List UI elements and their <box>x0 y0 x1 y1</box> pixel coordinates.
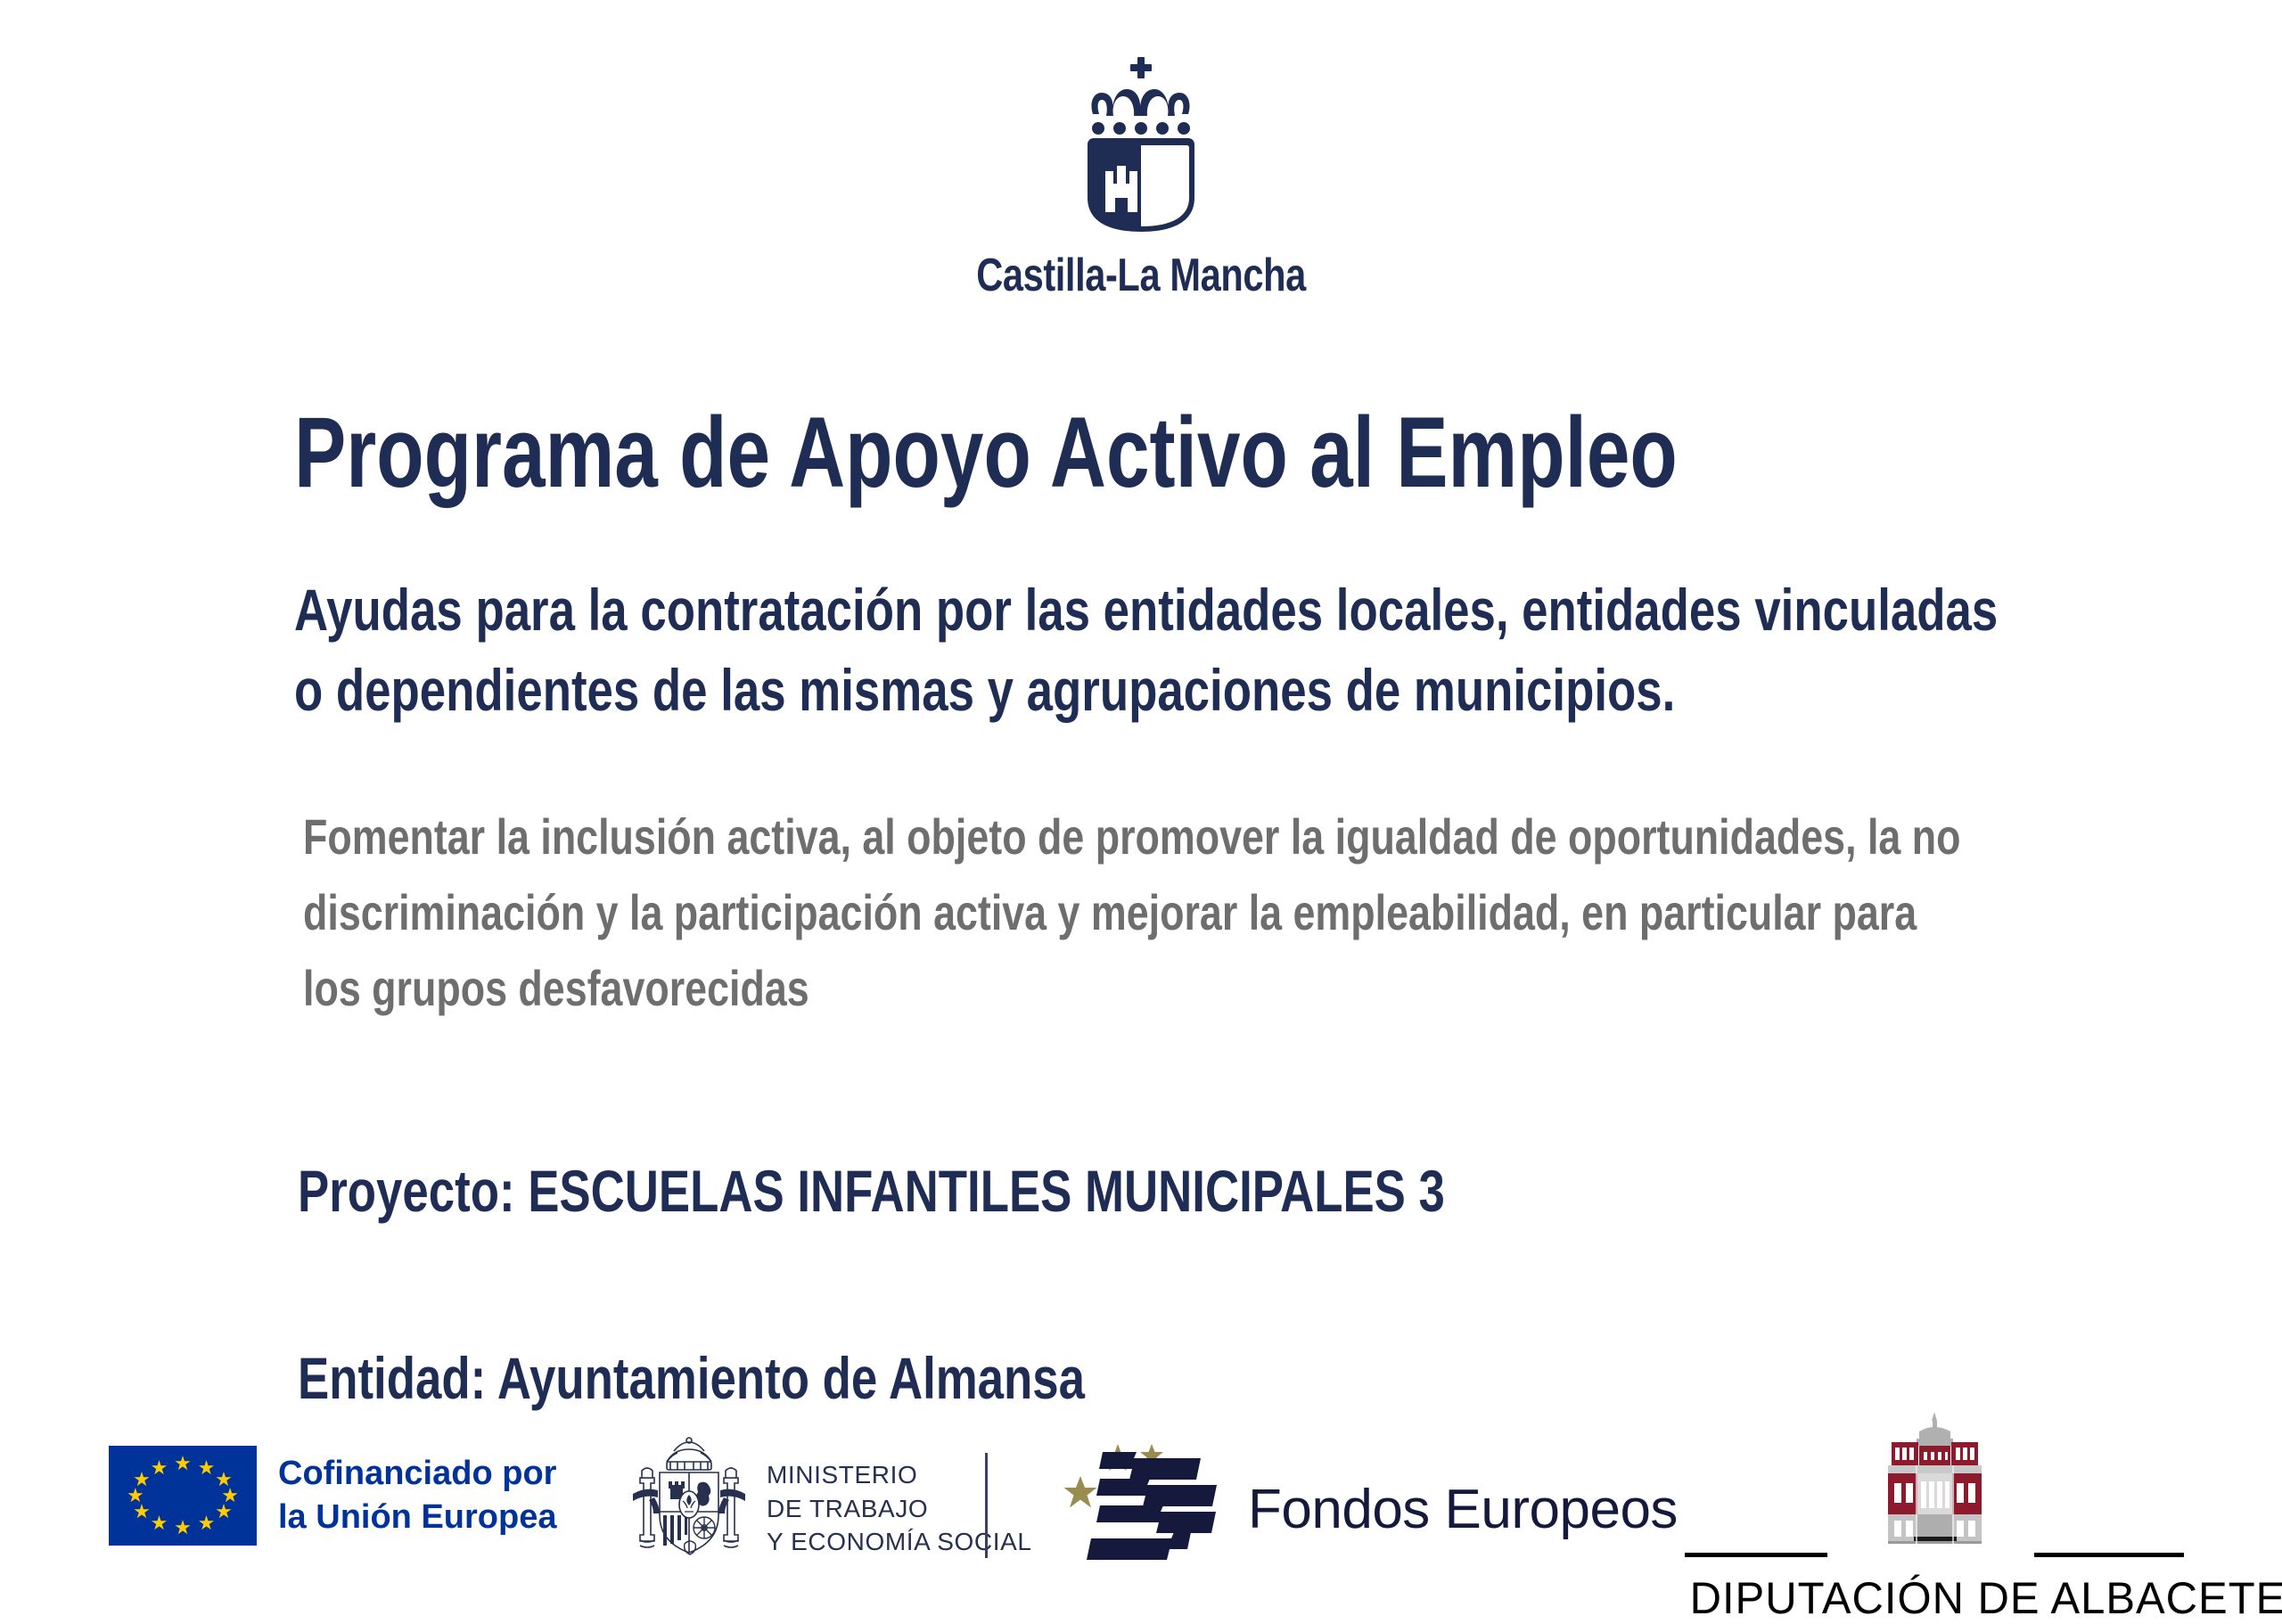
footer-divider <box>985 1453 988 1558</box>
subtitle-line: o dependientes de las mismas y agrupacio… <box>294 651 1792 731</box>
albacete-palace-building-icon <box>1685 1410 2184 1553</box>
body-line: discriminación y la participación activa… <box>303 874 1858 950</box>
fondos-europeos-bars-icon <box>1063 1442 1223 1576</box>
poster-page: Castilla-La Mancha Programa de Apoyo Act… <box>0 0 2282 1613</box>
eu-text-line-1: Cofinanciado por <box>278 1452 556 1496</box>
diputacion-albacete-logo: DIPUTACIÓN DE ALBACETE <box>1685 1410 2184 1624</box>
footer-logos: ★ ★ ★ ★ ★ ★ ★ ★ ★ ★ ★ ★ Cofinanciado por… <box>0 1426 2282 1613</box>
castilla-la-mancha-logo: Castilla-La Mancha <box>0 53 2282 302</box>
page-title: Programa de Apoyo Activo al Empleo <box>294 403 1678 503</box>
eu-flag-icon: ★ ★ ★ ★ ★ ★ ★ ★ ★ ★ ★ ★ <box>109 1446 257 1546</box>
eu-cofinancing-logo: ★ ★ ★ ★ ★ ★ ★ ★ ★ ★ ★ ★ Cofinanciado por… <box>109 1446 556 1546</box>
entity-line: Entidad: Ayuntamiento de Almansa <box>298 1344 1085 1412</box>
castilla-la-mancha-shield-icon <box>1063 53 1219 236</box>
spain-coat-of-arms-icon <box>631 1435 747 1582</box>
fondos-europeos-label: Fondos Europeos <box>1248 1478 1678 1541</box>
body-line: los grupos desfavorecidas <box>303 950 1858 1026</box>
ministerio-line-3: Y ECONOMÍA SOCIAL <box>767 1525 1032 1559</box>
eu-text-line-2: la Unión Europea <box>278 1496 556 1539</box>
eu-cofinancing-text: Cofinanciado por la Unión Europea <box>278 1452 556 1538</box>
diputacion-albacete-label: DIPUTACIÓN DE ALBACETE <box>1690 1572 2179 1624</box>
diputacion-rule <box>1685 1546 2184 1565</box>
ministerio-line-1: MINISTERIO <box>767 1458 1032 1492</box>
ministerio-line-2: DE TRABAJO <box>767 1492 1032 1526</box>
ministerio-text: MINISTERIO DE TRABAJO Y ECONOMÍA SOCIAL <box>767 1458 1032 1559</box>
body-line: Fomentar la inclusión activa, al objeto … <box>303 799 1858 874</box>
body-paragraph: Fomentar la inclusión activa, al objeto … <box>303 799 1858 1026</box>
ministerio-trabajo-logo: MINISTERIO DE TRABAJO Y ECONOMÍA SOCIAL <box>631 1435 1032 1582</box>
project-line: Proyecto: ESCUELAS INFANTILES MUNICIPALE… <box>298 1157 1445 1225</box>
subtitle: Ayudas para la contratación por las enti… <box>294 570 1792 731</box>
region-name: Castilla-La Mancha <box>976 249 1306 302</box>
subtitle-line: Ayudas para la contratación por las enti… <box>294 570 1792 651</box>
fondos-europeos-logo: Fondos Europeos <box>1063 1442 1678 1576</box>
